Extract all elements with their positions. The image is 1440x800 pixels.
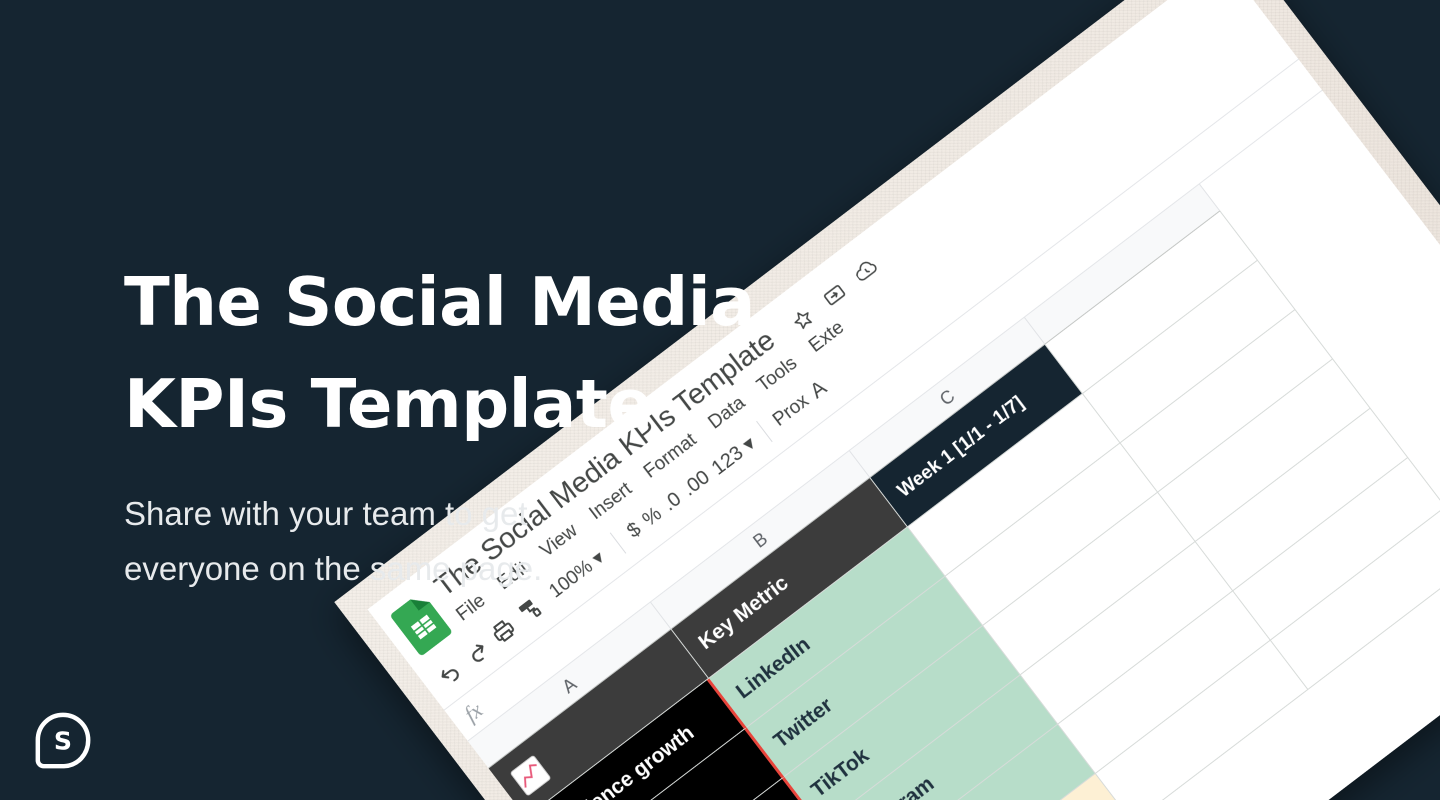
page-title: The Social Media KPIs Template: [124, 252, 764, 456]
hero-copy: The Social Media KPIs Template Share wit…: [124, 252, 764, 597]
print-icon[interactable]: [485, 612, 521, 648]
version-history-icon[interactable]: [851, 255, 882, 286]
redo-icon[interactable]: [458, 633, 494, 669]
font-family-select[interactable]: Prox: [769, 390, 813, 431]
text-color-icon[interactable]: A: [806, 376, 832, 404]
chart-thumbnail-icon[interactable]: [509, 754, 551, 796]
logo-letter: S: [54, 727, 72, 756]
promo-banner: The Social Media KPIs Template Share wit…: [0, 0, 1440, 800]
sprout-social-logo[interactable]: S: [32, 710, 94, 772]
fx-icon: fx: [459, 697, 487, 727]
star-icon[interactable]: [787, 304, 818, 335]
undo-icon[interactable]: [431, 654, 467, 690]
page-subtitle: Share with your team to get everyone on …: [124, 486, 764, 597]
move-to-folder-icon[interactable]: [819, 279, 850, 310]
paint-format-icon[interactable]: [512, 592, 548, 628]
